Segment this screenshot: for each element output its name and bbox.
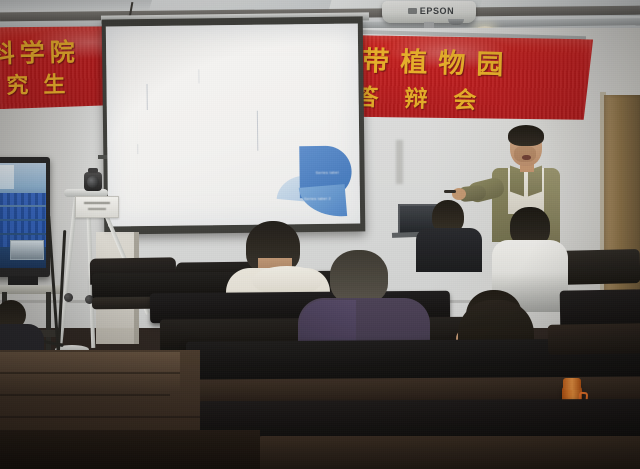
audience-member-purple-jacket — [330, 250, 388, 304]
photo-scene: EPSON 科学院 究生 带植物园 答辩会 Series label Serie… — [0, 0, 640, 469]
wall-mark — [396, 140, 403, 184]
bottle-cap — [563, 378, 581, 390]
pie-label-b: Series label 2 — [304, 196, 331, 201]
tripod-knob[interactable] — [64, 293, 73, 302]
banner-right-line1: 带植物园 — [362, 39, 593, 84]
monitor-stand — [8, 276, 38, 285]
monitor-seat-row — [0, 193, 46, 205]
screen-crease — [146, 84, 147, 110]
floor-plank — [0, 394, 170, 396]
red-banner-right: 带植物园 答辩会 — [351, 33, 593, 124]
red-banner-left: 科学院 究生 — [0, 25, 113, 109]
tripod-sign-card — [75, 196, 119, 218]
desk-row — [198, 399, 640, 441]
floor-plank — [0, 416, 200, 418]
audience-body — [416, 228, 482, 272]
floor-foreground — [0, 430, 260, 469]
projector-mount — [424, 22, 434, 28]
epson-mark-icon — [408, 8, 417, 14]
sign-text-line1 — [84, 202, 110, 204]
presenter-pointer — [444, 190, 456, 193]
seat-back — [556, 249, 640, 285]
banner-right-line2: 答辩会 — [355, 78, 586, 118]
monitor-seat-row — [0, 221, 46, 233]
desk-row-right — [548, 323, 640, 355]
monitor-window-glare — [0, 165, 14, 189]
projector-brand-label: EPSON — [400, 5, 462, 17]
camera-lens-icon — [87, 176, 99, 188]
desk-row-wood — [258, 436, 640, 469]
presenter-mouth — [522, 155, 531, 160]
monitor-seat-row — [0, 207, 46, 219]
sign-text-line2 — [88, 208, 106, 210]
pie-slice-b — [299, 184, 347, 220]
screen-crease — [137, 144, 138, 154]
camera-top — [88, 168, 98, 173]
pie-label-a: Series label — [316, 170, 339, 175]
projector-brand-text: EPSON — [420, 6, 455, 16]
projection-screen-surface: Series label Series label 2 — [106, 23, 360, 226]
floor-plank — [0, 372, 180, 374]
presenter-hair — [508, 125, 544, 146]
screen-crease — [198, 69, 199, 83]
monitor-inset-image — [10, 240, 44, 260]
screen-crease — [257, 111, 258, 151]
slide-pie-chart: Series label Series label 2 — [277, 146, 352, 219]
banner-left-line1: 科学院 — [0, 32, 112, 71]
